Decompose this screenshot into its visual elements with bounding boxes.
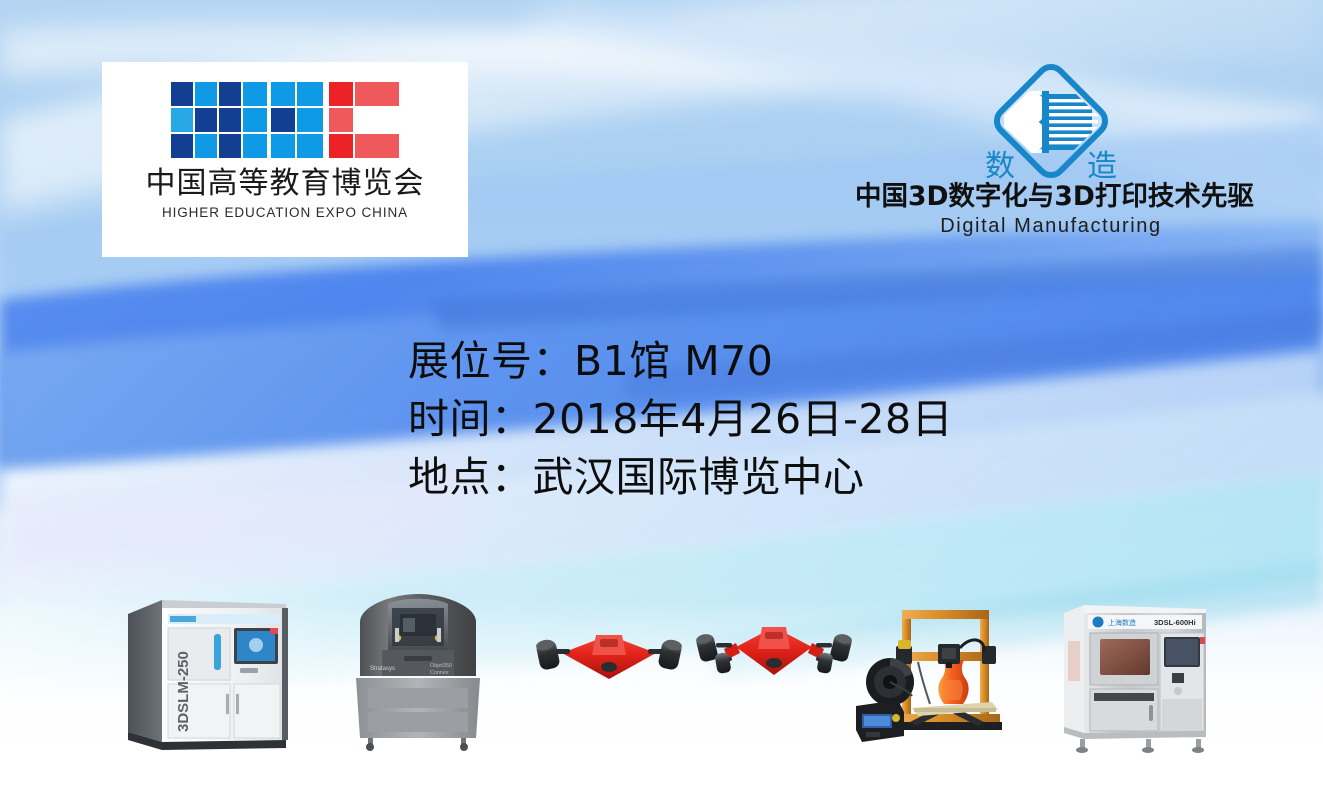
product-fdm-printer <box>852 596 1022 751</box>
svg-text:Connex: Connex <box>430 670 449 676</box>
printer-control-box <box>856 700 904 742</box>
heec-chinese-name: 中国高等教育博览会 <box>146 167 425 200</box>
heec-letter-h <box>171 82 267 158</box>
heec-wordmark-icon <box>171 82 399 158</box>
info-line-venue: 地点：武汉国际博览中心 <box>408 448 953 506</box>
info-line-booth: 展位号：B1馆 M70 <box>408 332 953 390</box>
product-strip: 3DSLM-250 <box>0 575 1323 775</box>
exhibition-banner: 中国高等教育博览会 HIGHER EDUCATION EXPO CHINA <box>0 0 1323 800</box>
product-brand-shsz: 上海数造 <box>1108 618 1136 627</box>
diamond-3-mark-icon: 数 造 <box>982 58 1120 184</box>
event-info-block: 展位号：B1馆 M70 时间：2018年4月26日-28日 地点：武汉国际博览中… <box>408 332 953 506</box>
brand-char-shu: 数 <box>985 149 1015 184</box>
product-3d-scanner-angled <box>694 613 854 699</box>
product-label-objet: Objet350 <box>430 663 452 669</box>
product-label-slm: 3DSLM-250 <box>175 651 192 732</box>
scanner-barrel-left <box>535 638 561 671</box>
product-3dsl-600hi: 上海数造 3DSL-600Hi <box>1056 583 1216 755</box>
product-brand-stratasys: Stratasys <box>370 666 395 672</box>
product-label-3dsl: 3DSL-600Hi <box>1154 618 1196 627</box>
info-line-date: 时间：2018年4月26日-28日 <box>408 390 953 448</box>
heec-letter-e2 <box>271 82 323 158</box>
dm-tagline-chinese: 中国3D数字化与3D打印技术先驱 <box>855 182 1247 212</box>
heec-logo-card: 中国高等教育博览会 HIGHER EDUCATION EXPO CHINA <box>102 62 468 257</box>
product-3d-scanner-front <box>534 621 684 691</box>
product-slm-250: 3DSLM-250 <box>118 582 303 757</box>
product-objet350-connex: Stratasys Objet350 Connex <box>348 588 488 753</box>
heec-letter-c <box>329 82 399 158</box>
brand-char-zao: 造 <box>1087 149 1117 184</box>
dm-tagline-english: Digital Manufacturing <box>855 215 1247 238</box>
digital-manufacturing-logo: 数 造 中国3D数字化与3D打印技术先驱 Digital Manufacturi… <box>855 58 1247 238</box>
scanner-barrel-right <box>657 638 683 671</box>
heec-english-name: HIGHER EDUCATION EXPO CHINA <box>162 205 408 220</box>
